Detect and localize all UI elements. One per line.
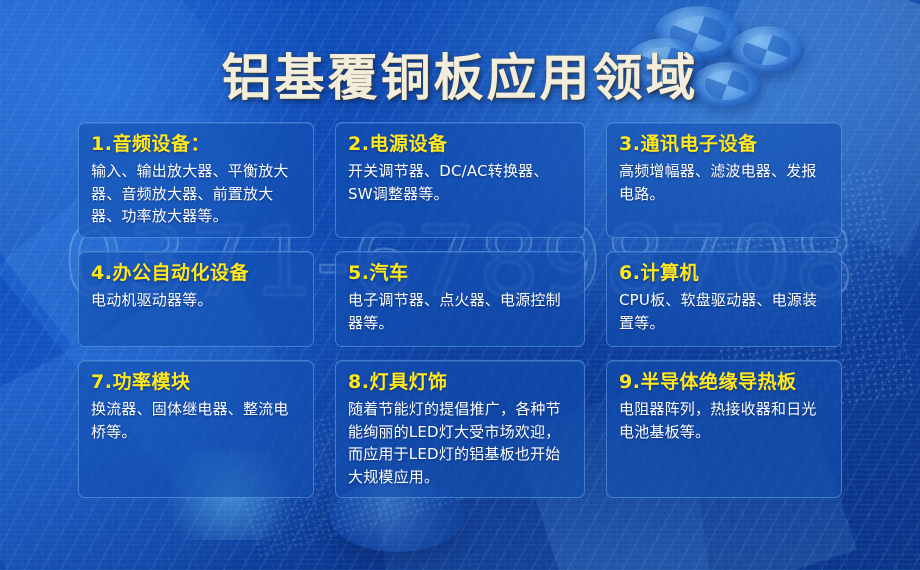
- card-body: 电阻器阵列，热接收器和日光电池基板等。: [619, 398, 829, 444]
- application-card-2: 2.电源设备 开关调节器、DC/AC转换器、SW调整器等。: [335, 122, 585, 238]
- card-title: 5.汽车: [348, 262, 572, 286]
- application-card-5: 5.汽车 电子调节器、点火器、电源控制器等。: [335, 251, 585, 347]
- application-card-7: 7.功率模块 换流器、固体继电器、整流电桥等。: [78, 360, 314, 498]
- card-title: 6.计算机: [619, 262, 829, 286]
- page-title: 铝基覆铜板应用领域: [0, 38, 920, 110]
- card-body: 电动机驱动器等。: [91, 289, 301, 312]
- card-title: 4.办公自动化设备: [91, 262, 301, 286]
- card-title: 8.灯具灯饰: [348, 371, 572, 395]
- card-body: 高频增幅器、滤波电器、发报电路。: [619, 160, 829, 206]
- card-title: 7.功率模块: [91, 371, 301, 395]
- card-body: 电子调节器、点火器、电源控制器等。: [348, 289, 572, 335]
- card-title: 9.半导体绝缘导热板: [619, 371, 829, 395]
- application-card-9: 9.半导体绝缘导热板 电阻器阵列，热接收器和日光电池基板等。: [606, 360, 842, 498]
- card-body: CPU板、软盘驱动器、电源装置等。: [619, 289, 829, 335]
- card-body: 随着节能灯的提倡推广，各种节能绚丽的LED灯大受市场欢迎，而应用于LED灯的铝基…: [348, 398, 572, 489]
- application-card-1: 1.音频设备： 输入、输出放大器、平衡放大器、音频放大器、前置放大器、功率放大器…: [78, 122, 314, 238]
- card-title: 1.音频设备：: [91, 133, 301, 157]
- card-body: 换流器、固体继电器、整流电桥等。: [91, 398, 301, 444]
- card-title: 3.通讯电子设备: [619, 133, 829, 157]
- card-body: 输入、输出放大器、平衡放大器、音频放大器、前置放大器、功率放大器等。: [91, 160, 301, 228]
- card-body: 开关调节器、DC/AC转换器、SW调整器等。: [348, 160, 572, 206]
- card-title: 2.电源设备: [348, 133, 572, 157]
- application-card-3: 3.通讯电子设备 高频增幅器、滤波电器、发报电路。: [606, 122, 842, 238]
- application-card-4: 4.办公自动化设备 电动机驱动器等。: [78, 251, 314, 347]
- application-card-8: 8.灯具灯饰 随着节能灯的提倡推广，各种节能绚丽的LED灯大受市场欢迎，而应用于…: [335, 360, 585, 498]
- application-cards-grid: 1.音频设备： 输入、输出放大器、平衡放大器、音频放大器、前置放大器、功率放大器…: [78, 122, 842, 498]
- application-card-6: 6.计算机 CPU板、软盘驱动器、电源装置等。: [606, 251, 842, 347]
- poster-canvas: 0371-67898708 铝基覆铜板应用领域 1.音频设备： 输入、输出放大器…: [0, 0, 920, 570]
